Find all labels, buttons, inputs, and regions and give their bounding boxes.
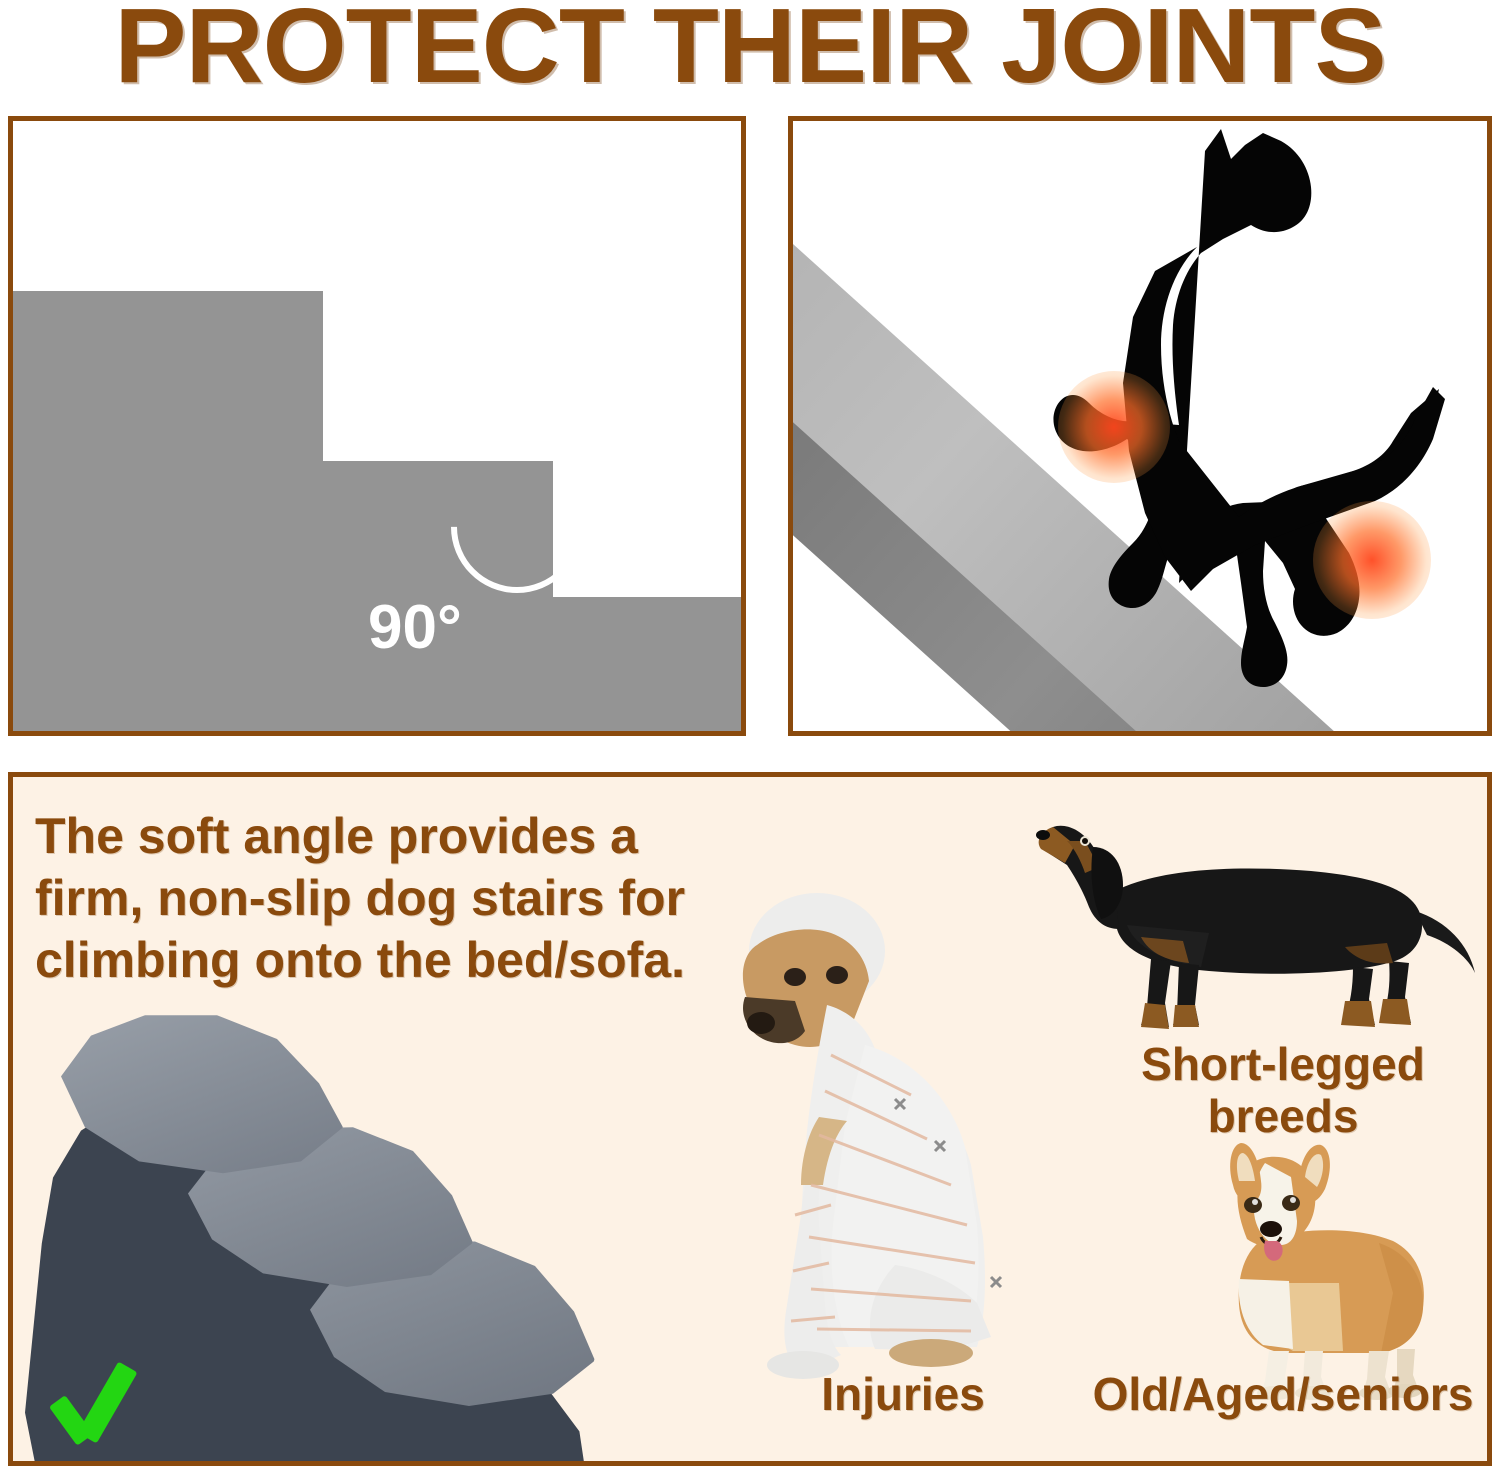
caption-short-legged: Short-legged breeds (1093, 1039, 1473, 1142)
caption-injuries: Injuries (753, 1369, 1053, 1421)
foam-dog-stairs-product (25, 999, 585, 1466)
panel-hard-steps: 90° Difficulty of climbing (8, 116, 746, 736)
panel-slippery-ramp: Slippery, easy to fall (788, 116, 1492, 736)
product-infographic: PROTECT THEIR JOINTS 90° Difficulty of c… (0, 0, 1500, 1474)
corgi-photo (1143, 1143, 1443, 1403)
angle-measure-label: 90° (368, 597, 462, 659)
page-title: PROTECT THEIR JOINTS (0, 0, 1500, 100)
solution-headline: The soft angle provides a firm, non-slip… (35, 805, 735, 991)
green-check-icon (53, 1347, 149, 1443)
black-dog-silhouette (793, 121, 1487, 731)
caption-seniors: Old/Aged/seniors (1063, 1369, 1492, 1421)
bandaged-dog-photo (699, 885, 1079, 1383)
panel-solution: The soft angle provides a firm, non-slip… (8, 772, 1492, 1466)
dachshund-photo (1023, 807, 1492, 1047)
